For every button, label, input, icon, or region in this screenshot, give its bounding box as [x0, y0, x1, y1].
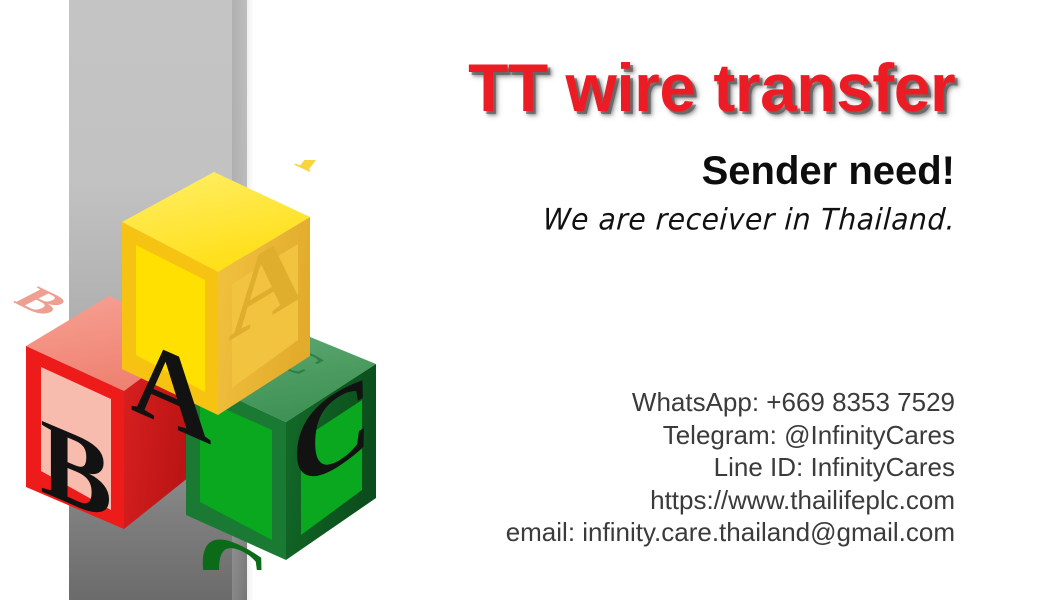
contact-line-telegram: Telegram: @InfinityCares: [506, 419, 955, 452]
contact-block: WhatsApp: +669 8353 7529 Telegram: @Infi…: [506, 386, 955, 549]
contact-line-whatsapp: WhatsApp: +669 8353 7529: [506, 386, 955, 419]
text-column: TT wire transfer Sender need! We are rec…: [250, 0, 1063, 600]
contact-line-line-id: Line ID: InfinityCares: [506, 451, 955, 484]
contact-line-email[interactable]: email: infinity.care.thailand@gmail.com: [506, 516, 955, 549]
headline: TT wire transfer: [468, 54, 955, 122]
promo-card: B B C C C: [0, 0, 1063, 600]
subheadline: Sender need!: [702, 150, 955, 192]
svg-text:B: B: [14, 281, 81, 322]
contact-line-website[interactable]: https://www.thailifeplc.com: [506, 484, 955, 517]
tagline: We are receiver in Thailand.: [542, 202, 956, 238]
